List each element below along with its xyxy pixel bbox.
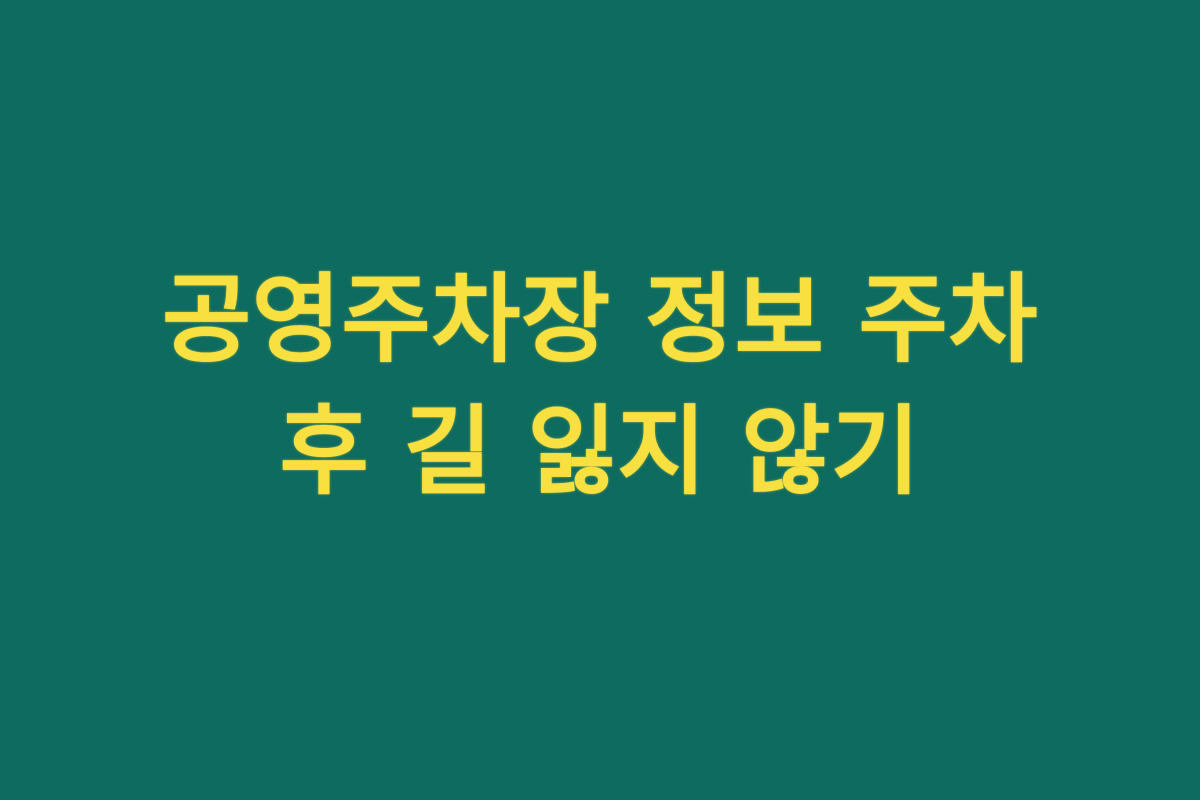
headline-line-2: 후 길 잃지 않기 (279, 386, 920, 518)
banner-canvas: 공영주차장 정보 주차 후 길 잃지 않기 (0, 0, 1200, 800)
headline-line-1: 공영주차장 정보 주차 (162, 254, 1038, 386)
headline-block: 공영주차장 정보 주차 후 길 잃지 않기 (0, 254, 1200, 518)
